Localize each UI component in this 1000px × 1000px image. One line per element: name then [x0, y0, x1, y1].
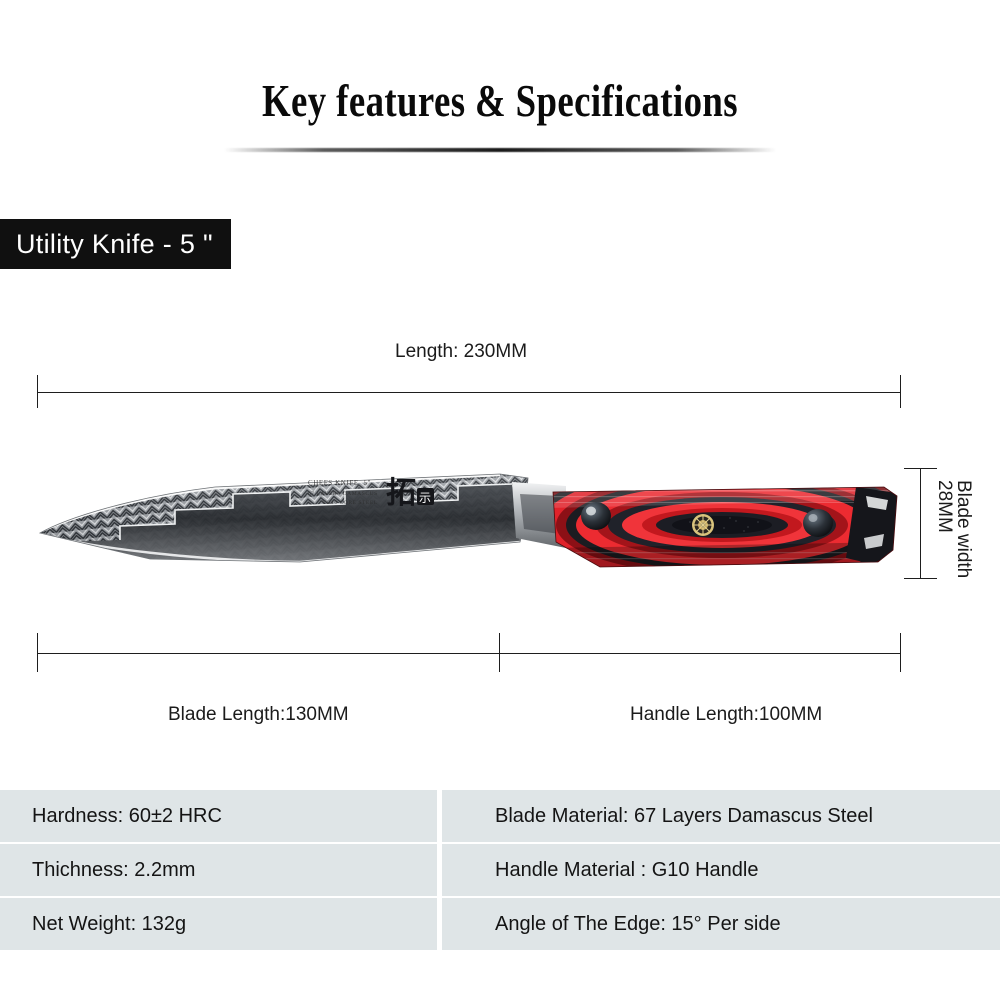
- blade-width-label-line1: Blade width: [952, 480, 974, 578]
- handle-length-label: Handle Length:100MM: [630, 704, 822, 726]
- knife-illustration: CHEFS KNIFE 5" 67 LAYERS DAMASCUS VG10 C…: [0, 430, 1000, 620]
- total-length-tick-left: [37, 375, 38, 408]
- spec-cell-hardness: Hardness: 60±2 HRC: [0, 790, 437, 842]
- page-title: Key features & Specifications: [100, 74, 900, 127]
- svg-text:CHEFS KNIFE 5": CHEFS KNIFE 5": [308, 479, 371, 487]
- blade-handle-tick-middle: [499, 633, 500, 672]
- svg-text:示: 示: [419, 491, 431, 505]
- spec-row-3: Net Weight: 132g Angle of The Edge: 15° …: [0, 898, 1000, 950]
- spec-cell-net-weight: Net Weight: 132g: [0, 898, 437, 950]
- infographic-page: Key features & Specifications Utility Kn…: [0, 0, 1000, 1000]
- blade-length-label: Blade Length:130MM: [168, 704, 349, 726]
- svg-text:VG10 CORE STEEL: VG10 CORE STEEL: [322, 500, 378, 506]
- svg-text:67 LAYERS DAMASCUS: 67 LAYERS DAMASCUS: [308, 491, 378, 497]
- blade-width-label-line2: 28MM: [933, 480, 955, 533]
- product-badge-label: Utility Knife - 5 ": [16, 229, 213, 260]
- blade-width-tick-top: [904, 468, 937, 469]
- total-length-label: Length: 230MM: [395, 341, 527, 363]
- handle-length-tick-right: [900, 633, 901, 672]
- spec-table: Hardness: 60±2 HRC Blade Material: 67 La…: [0, 790, 1000, 950]
- spec-row-1: Hardness: 60±2 HRC Blade Material: 67 La…: [0, 790, 1000, 842]
- total-length-dimension-line: [37, 392, 901, 393]
- spec-row-2: Thichness: 2.2mm Handle Material : G10 H…: [0, 844, 1000, 896]
- spec-cell-thickness: Thichness: 2.2mm: [0, 844, 437, 896]
- blade-width-dimension-line: [920, 468, 921, 579]
- handle-rivet-rear: [803, 509, 833, 537]
- spec-cell-blade-material: Blade Material: 67 Layers Damascus Steel: [442, 790, 1000, 842]
- handle-rivet-front: [581, 502, 611, 530]
- knife-handle: [522, 455, 922, 595]
- title-divider: [224, 148, 776, 152]
- total-length-tick-right: [900, 375, 901, 408]
- svg-text:拓: 拓: [386, 476, 416, 511]
- knife-blade: CHEFS KNIFE 5" 67 LAYERS DAMASCUS VG10 C…: [20, 460, 560, 580]
- blade-width-tick-bottom: [904, 578, 937, 579]
- product-badge: Utility Knife - 5 ": [0, 219, 231, 269]
- handle-mosaic-pin: [692, 514, 714, 536]
- blade-handle-dimension-line: [37, 653, 901, 654]
- blade-length-tick-left: [37, 633, 38, 672]
- spec-cell-handle-material: Handle Material : G10 Handle: [442, 844, 1000, 896]
- spec-cell-edge-angle: Angle of The Edge: 15° Per side: [442, 898, 1000, 950]
